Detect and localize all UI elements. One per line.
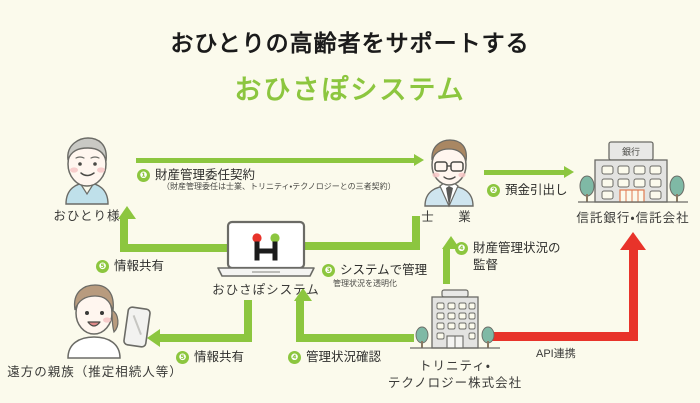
label-relative: 遠方の親族（推定相続人等） <box>0 364 190 381</box>
label-system: おひさぽシステム <box>206 282 326 299</box>
step-5-upper-label: ❺ 情報共有 <box>96 258 164 275</box>
step-4-check-badge: ❹ <box>288 351 301 364</box>
arrow-api-horizontal <box>490 332 638 341</box>
step-1-note: （財産管理委任は士業、トリニティ・テクノロジーとの三者契約） <box>162 181 396 192</box>
arrow-step2-head <box>564 166 574 178</box>
label-trinity: トリニティ・ テクノロジー株式会社 <box>385 358 525 392</box>
step-5-lower-text: 情報共有 <box>194 349 244 366</box>
step-3-note: 管理状況を透明化 <box>333 278 397 289</box>
professional-man-avatar <box>409 136 489 208</box>
svg-text:銀行: 銀行 <box>622 146 640 157</box>
elderly-man-avatar <box>44 134 130 206</box>
arrow-api-head <box>620 232 646 250</box>
arrow-step1-shaft <box>136 158 416 163</box>
step-5-upper-badge: ❺ <box>96 260 109 273</box>
label-elderly: おひとり様 <box>28 208 146 225</box>
step-4-supervise-text: 財産管理状況の 監督 <box>473 240 561 274</box>
step-4-supervise-badge: ❹ <box>455 242 468 255</box>
api-connection-label: API連携 <box>536 345 576 361</box>
label-trinity-line1: トリニティ・ <box>385 358 525 375</box>
step-3-label: ❸ システムで管理 <box>322 262 427 279</box>
step-5-lower-badge: ❺ <box>176 351 189 364</box>
step-2-label: ❷ 預金引出し <box>487 182 568 199</box>
office-building-icon <box>410 288 500 354</box>
label-bank: 信託銀行・信託会社 <box>566 210 700 227</box>
step-3-text: システムで管理 <box>340 262 427 279</box>
step-1-badge: ❶ <box>137 169 150 182</box>
page-title: おひとりの高齢者をサポートする <box>0 24 700 58</box>
step-4-supervise-line2: 監督 <box>473 258 498 272</box>
label-expert: 士 業 <box>399 209 499 226</box>
step-4-supervise-line1: 財産管理状況の <box>473 241 561 255</box>
relative-woman-avatar <box>52 282 156 360</box>
label-trinity-line2: テクノロジー株式会社 <box>385 375 525 392</box>
step-2-text: 預金引出し <box>505 182 568 199</box>
arrow-api-vertical <box>629 248 638 338</box>
step-3-badge: ❸ <box>322 264 335 277</box>
step-5-upper-text: 情報共有 <box>114 258 164 275</box>
bank-building-icon: 銀行 <box>578 136 688 208</box>
step-4-check-label: ❹ 管理状況確認 <box>288 349 381 366</box>
step-5-lower-label: ❺ 情報共有 <box>176 349 244 366</box>
step-4-supervise-label: ❹ 財産管理状況の 監督 <box>455 240 561 274</box>
step-2-badge: ❷ <box>487 184 500 197</box>
arrow-step4-supervise-shaft <box>443 248 450 284</box>
arrow-step4-check-horizontal <box>296 334 414 342</box>
arrow-step2-shaft <box>484 170 566 175</box>
diagram-canvas: おひとりの高齢者をサポートする おひさぽシステム <box>0 0 700 403</box>
arrow-step5-lower-horizontal <box>160 334 252 342</box>
laptop-icon <box>212 220 320 278</box>
page-subtitle: おひさぽシステム <box>0 68 700 107</box>
step-4-check-text: 管理状況確認 <box>306 349 381 366</box>
